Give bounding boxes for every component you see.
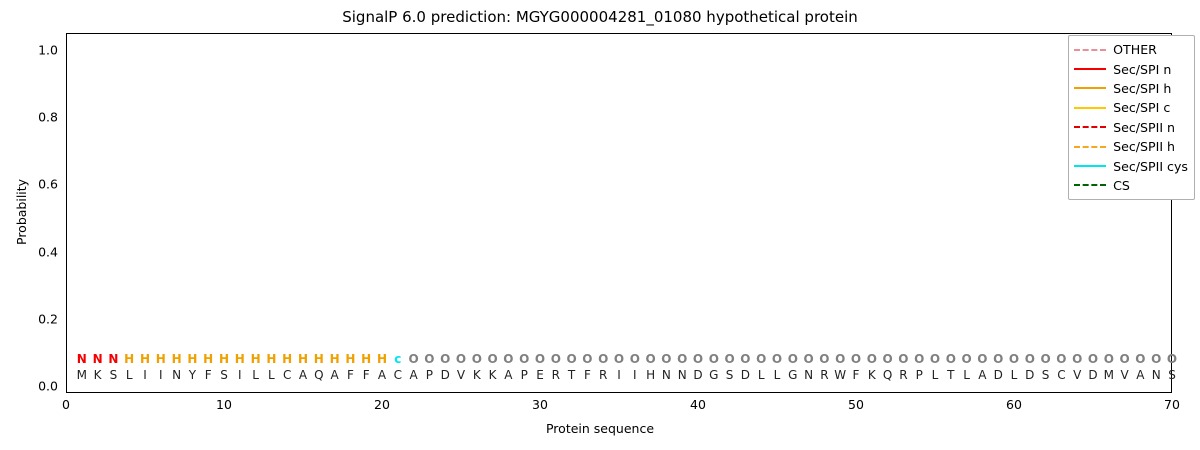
legend-swatch	[1074, 165, 1106, 167]
y-tick-0.4: 0.4	[12, 244, 58, 259]
x-tick-40: 40	[678, 397, 718, 412]
legend-label: Sec/SPI n	[1113, 62, 1171, 77]
legend-label: Sec/SPI c	[1113, 100, 1170, 115]
y-axis-title: Probability	[14, 179, 29, 245]
legend-item-sec-spi-c[interactable]: Sec/SPI c	[1074, 98, 1188, 117]
legend-swatch	[1074, 126, 1106, 128]
plot-frame	[66, 33, 1172, 393]
legend-swatch	[1074, 68, 1106, 70]
x-tick-10: 10	[204, 397, 244, 412]
legend-swatch	[1074, 184, 1106, 186]
legend-item-cs[interactable]: CS	[1074, 176, 1188, 195]
y-tick-0.0: 0.0	[12, 379, 58, 394]
x-tick-30: 30	[520, 397, 560, 412]
legend-label: Sec/SPII h	[1113, 139, 1175, 154]
legend-label: Sec/SPI h	[1113, 81, 1171, 96]
protein-sequence-row: MKSLIINYFSILLCAQAFFACAPDVKKAPERTFRIIHNND…	[66, 368, 1172, 383]
plot-area	[66, 33, 1172, 393]
legend-item-sec-spi-n[interactable]: Sec/SPI n	[1074, 59, 1188, 78]
y-tick-1.0: 1.0	[12, 42, 58, 57]
legend-swatch	[1074, 49, 1106, 51]
chart-legend: OTHERSec/SPI nSec/SPI hSec/SPI cSec/SPII…	[1068, 35, 1195, 200]
y-tick-0.8: 0.8	[12, 110, 58, 125]
legend-label: OTHER	[1113, 42, 1157, 57]
signalp-chart-figure: SignalP 6.0 prediction: MGYG000004281_01…	[0, 0, 1200, 450]
legend-item-sec-spii-cys[interactable]: Sec/SPII cys	[1074, 156, 1188, 175]
x-tick-20: 20	[362, 397, 402, 412]
legend-swatch	[1074, 107, 1106, 109]
legend-item-sec-spii-h[interactable]: Sec/SPII h	[1074, 137, 1188, 156]
x-axis-title: Protein sequence	[0, 421, 1200, 436]
legend-item-sec-spi-h[interactable]: Sec/SPI h	[1074, 79, 1188, 98]
y-tick-0.2: 0.2	[12, 311, 58, 326]
x-tick-70: 70	[1152, 397, 1192, 412]
region-letter: O	[1161, 352, 1183, 367]
legend-label: CS	[1113, 178, 1130, 193]
x-tick-50: 50	[836, 397, 876, 412]
legend-item-sec-spii-n[interactable]: Sec/SPII n	[1074, 118, 1188, 137]
region-annotation-row: NNNHHHHHHHHHHHHHHHHHcOOOOOOOOOOOOOOOOOOO…	[66, 352, 1172, 367]
legend-swatch	[1074, 146, 1106, 148]
legend-swatch	[1074, 87, 1106, 89]
legend-label: Sec/SPII n	[1113, 120, 1175, 135]
legend-label: Sec/SPII cys	[1113, 159, 1188, 174]
x-tick-60: 60	[994, 397, 1034, 412]
chart-title: SignalP 6.0 prediction: MGYG000004281_01…	[0, 8, 1200, 26]
x-tick-0: 0	[46, 397, 86, 412]
legend-item-other[interactable]: OTHER	[1074, 40, 1188, 59]
sequence-residue: S	[1161, 368, 1183, 383]
